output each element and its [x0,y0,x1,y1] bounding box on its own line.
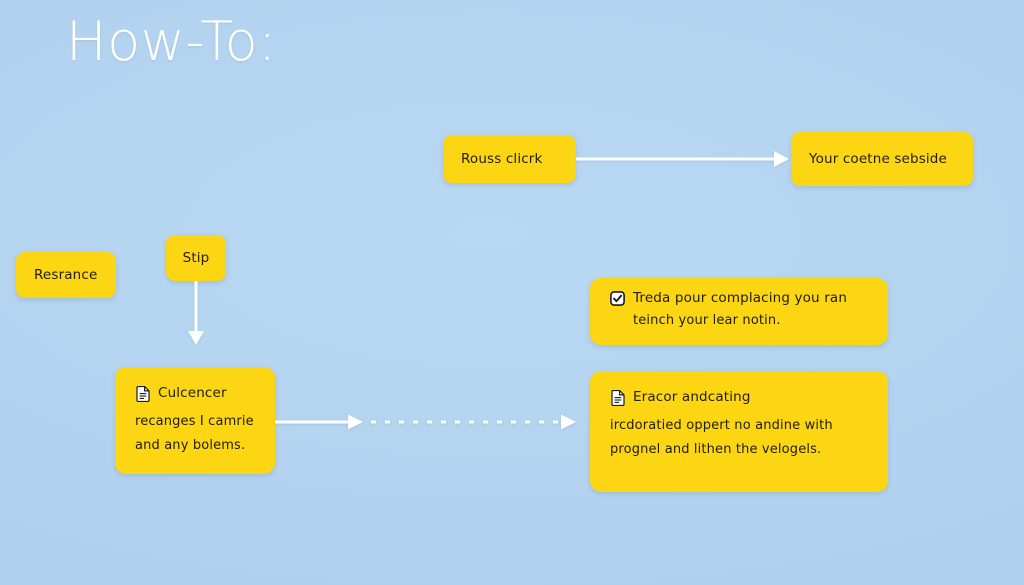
card-eracor-heading: Eracor andcating [633,389,751,406]
node-your-coetne-sebside-label: Your coetne sebside [809,150,947,168]
connector-stip-to-culcencer [185,281,207,347]
card-culcencer-header: Culcencer [135,385,255,402]
document-icon [135,386,150,402]
card-eracor[interactable]: Eracor andcating ircdoratied oppert no a… [590,371,888,492]
card-eracor-body-line-1: ircdoratied oppert no andine with [610,414,868,438]
card-eracor-body: ircdoratied oppert no andine with progne… [610,414,868,462]
card-culcencer-body-line-1: recanges I camrie [135,410,255,434]
node-stip-label: Stip [183,249,210,267]
checkbox-checked-icon[interactable] [610,291,625,307]
node-resrance-label: Resrance [34,266,97,284]
infographic-canvas: How-To: Rouss clicrk Your coetne sebside… [0,0,1024,585]
document-icon [610,390,625,406]
card-treda-body-line-1: Treda pour complacing you ran [633,290,847,307]
node-stip[interactable]: Stip [166,235,226,281]
card-treda-body: teinch your lear notin. [610,309,868,333]
card-treda-body-line-2: teinch your lear notin. [633,309,868,333]
card-eracor-header: Eracor andcating [610,389,868,406]
page-title: How-To: [66,10,277,74]
card-treda-first-line: Treda pour complacing you ran [610,290,868,307]
card-culcencer[interactable]: Culcencer recanges I camrie and any bole… [115,367,275,474]
card-treda[interactable]: Treda pour complacing you ran teinch you… [590,278,888,345]
card-culcencer-heading: Culcencer [158,385,227,402]
card-culcencer-body-line-2: and any bolems. [135,434,255,458]
node-rouss-clicrk-label: Rouss clicrk [461,150,542,168]
node-resrance[interactable]: Resrance [16,252,116,298]
node-rouss-clicrk[interactable]: Rouss clicrk [443,135,576,183]
connector-culcencer-to-eracor [275,411,591,433]
node-your-coetne-sebside[interactable]: Your coetne sebside [791,132,973,186]
card-culcencer-body: recanges I camrie and any bolems. [135,410,255,458]
card-eracor-body-line-2: prognel and lithen the velogels. [610,438,868,462]
connector-rouss-to-sebside [576,148,792,170]
